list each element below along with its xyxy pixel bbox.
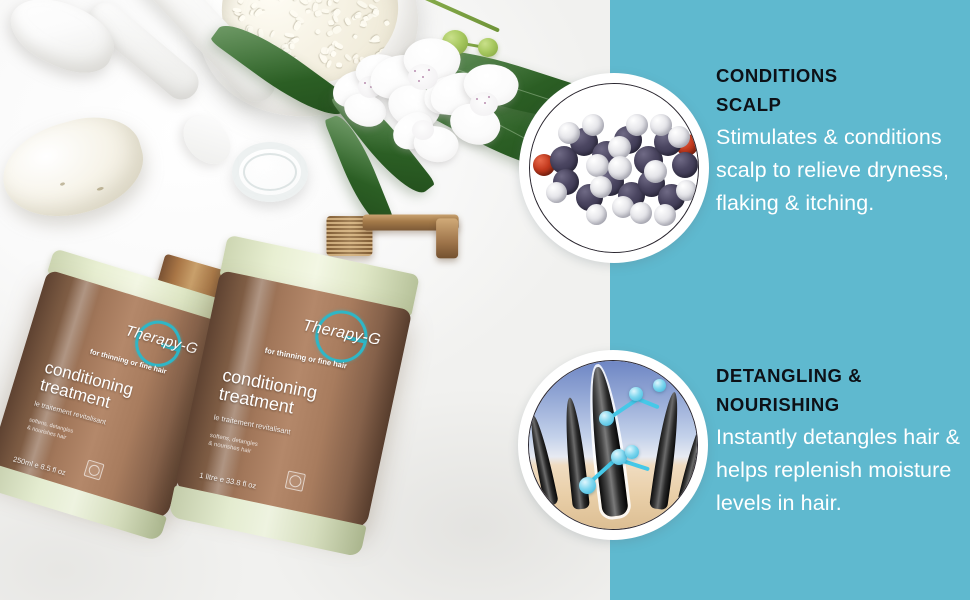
bottle-fineprint-small: softens, detangles & nourishes hair (26, 417, 74, 443)
bottle-product-name-large: conditioning treatment (217, 366, 319, 422)
marketing-banner: Therapy-G for thinning or fine hair cond… (0, 0, 970, 600)
bottle-volume-large: 1 litre e 33.8 fl oz (199, 471, 257, 491)
bottle-eco-badge-small (83, 459, 104, 480)
white-orchid-4 (388, 100, 474, 178)
product-photo-panel: Therapy-G for thinning or fine hair cond… (0, 0, 610, 600)
bottle-eco-badge-large (285, 470, 306, 491)
glass-jar (232, 142, 308, 202)
orchid-bud-2 (478, 38, 498, 57)
bottle-fineprint-large: softens, detangles & nourishes hair (207, 432, 258, 457)
benefits-panel (610, 0, 970, 600)
pump-head-large (436, 218, 458, 258)
